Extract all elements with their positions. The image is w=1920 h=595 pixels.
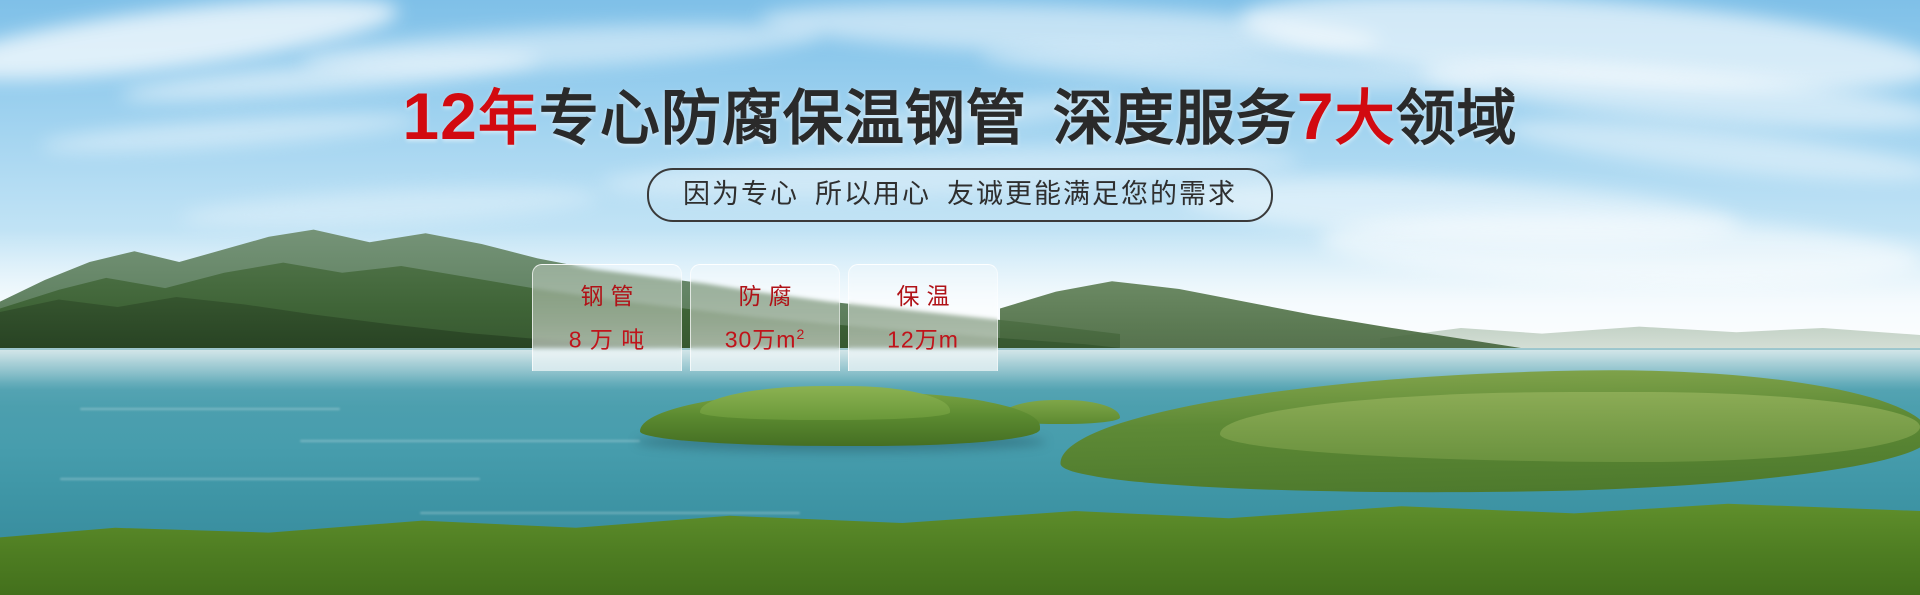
headline-years-unit: 年 (478, 85, 539, 152)
stat-card-group: 钢管 8 万 吨 防腐 30万m2 保温 12万m (532, 264, 998, 371)
subtitle-part-3: 友诚更能满足您的需求 (947, 179, 1237, 209)
stat-card-anticorrosion[interactable]: 防腐 30万m2 (690, 264, 840, 371)
stat-card-value-text: 12万m (887, 327, 959, 353)
stat-card-value: 12万m (887, 322, 959, 352)
headline-fields-number: 7 (1297, 79, 1335, 153)
water-ripple (420, 512, 800, 514)
water-ripple (80, 408, 340, 410)
headline-main-text: 专心防腐保温钢管 (539, 85, 1027, 152)
water-ripple (60, 478, 480, 480)
stat-card-label: 钢管 (574, 284, 641, 308)
stat-card-insulation[interactable]: 保温 12万m (848, 264, 998, 371)
headline-fields-text: 领域 (1396, 85, 1518, 152)
headline-fields-unit: 大 (1335, 85, 1396, 152)
headline-service-text: 深度服务 (1053, 85, 1297, 152)
banner-headline: 12年专心防腐保温钢管深度服务7大领域 (0, 84, 1920, 151)
stat-card-label: 防腐 (732, 284, 799, 308)
subtitle-part-1: 因为专心 (683, 179, 799, 209)
stat-card-value-sup: 2 (796, 326, 805, 342)
headline-years-number: 12 (402, 79, 477, 153)
stat-card-value-text: 30万m (725, 327, 797, 353)
banner-subtitle-pill: 因为专心所以用心友诚更能满足您的需求 (647, 168, 1273, 222)
stat-card-label: 保温 (890, 284, 957, 308)
stat-card-value: 30万m2 (725, 322, 806, 352)
stat-card-value: 8 万 吨 (569, 322, 646, 352)
water-ripple (300, 440, 640, 442)
stat-card-steel-pipe[interactable]: 钢管 8 万 吨 (532, 264, 682, 371)
subtitle-part-2: 所以用心 (815, 179, 931, 209)
hero-banner: 12年专心防腐保温钢管深度服务7大领域 因为专心所以用心友诚更能满足您的需求 钢… (0, 0, 1920, 595)
stat-card-value-text: 8 万 吨 (569, 327, 646, 353)
